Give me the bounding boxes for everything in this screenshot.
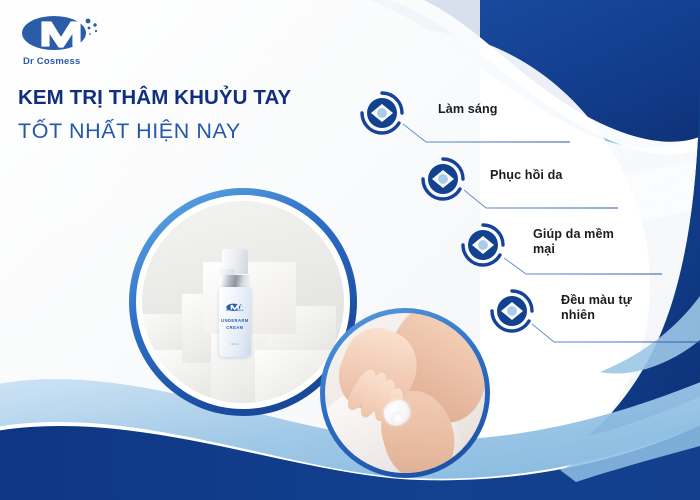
product-bottle: Dr Cosmess UNDERARM CREAM 30 ml xyxy=(215,249,255,357)
bottle-volume: 30 ml xyxy=(219,343,251,346)
connector-4 xyxy=(532,324,700,342)
bottle-product-name-line-2: CREAM xyxy=(226,325,243,330)
benefit-target-icon xyxy=(420,156,466,202)
bottle-body: Dr Cosmess UNDERARM CREAM 30 ml xyxy=(219,287,251,357)
benefit-target-icon xyxy=(489,288,535,334)
photo-cream-dab xyxy=(391,411,405,425)
connector-2 xyxy=(464,190,618,208)
benefit-label-4: Đều màu tự nhiên xyxy=(561,293,661,324)
promo-banner: Dr Cosmess KEM TRỊ THÂM KHUỶU TAY TỐT NH… xyxy=(0,0,700,500)
benefit-label-1: Làm sáng xyxy=(438,102,578,117)
connector-3 xyxy=(504,258,662,274)
application-photo-frame xyxy=(320,308,490,478)
product-photo: Dr Cosmess UNDERARM CREAM 30 ml xyxy=(142,201,344,403)
benefit-target-icon xyxy=(460,222,506,268)
product-photo-inner-ring: Dr Cosmess UNDERARM CREAM 30 ml xyxy=(136,195,350,409)
dr-cosmess-monogram-icon xyxy=(225,299,244,308)
connector-1 xyxy=(403,124,570,142)
application-photo xyxy=(325,313,485,473)
benefit-label-2: Phục hồi da xyxy=(490,168,640,183)
bottle-product-name-line-1: UNDERARM xyxy=(221,318,248,323)
benefit-target-icon xyxy=(359,90,405,136)
bottle-product-name: UNDERARM CREAM xyxy=(219,318,251,331)
bottle-brand-name: Dr Cosmess xyxy=(219,309,251,312)
benefit-label-3: Giúp da mềm mại xyxy=(533,227,633,258)
